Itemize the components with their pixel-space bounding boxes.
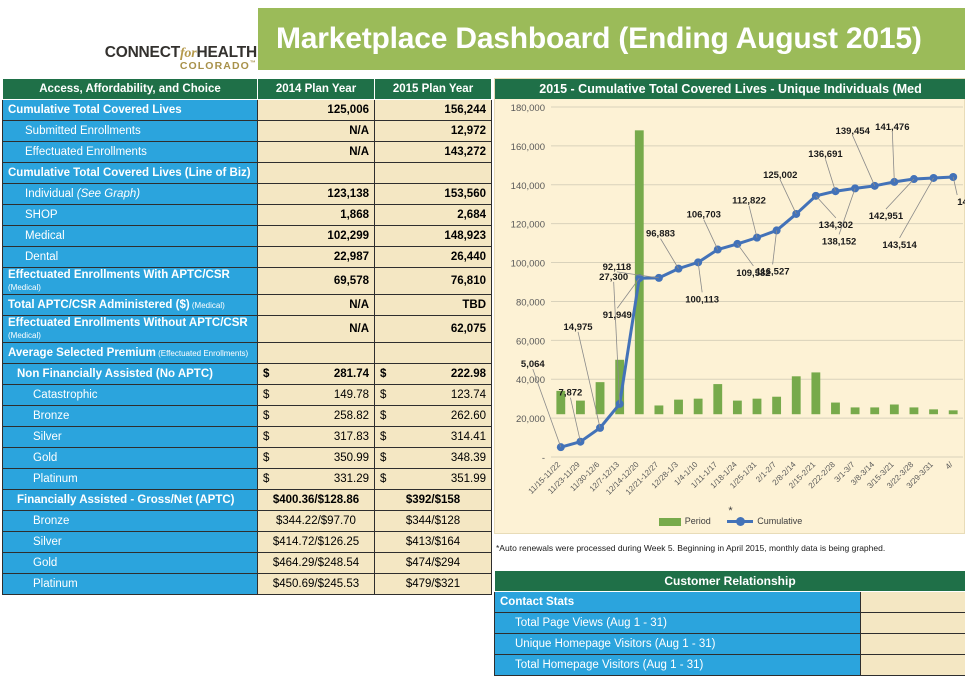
- row-label: Medical: [3, 226, 258, 247]
- data-label-leader: [825, 159, 835, 191]
- table-row: Individual (See Graph)123,138153,560: [3, 184, 492, 205]
- cell-2015: $344/$128: [375, 511, 492, 532]
- cell-2015: 26,440: [375, 247, 492, 268]
- data-label-leader: [773, 230, 777, 264]
- cell-2014: 123,138: [258, 184, 375, 205]
- table-row: Non Financially Assisted (No APTC)$281.7…: [3, 364, 492, 385]
- table-row: Platinum$450.69/$245.53$479/$321: [3, 574, 492, 595]
- data-label-leader: [749, 206, 757, 238]
- line-data-point: [576, 438, 584, 446]
- logo-colorado-text: COLORADO™: [72, 60, 257, 72]
- bar-period: [811, 372, 820, 414]
- cell-2015: 143,272: [375, 142, 492, 163]
- cell-2015: $123.74: [375, 385, 492, 406]
- column-header-2015: 2015 Plan Year: [375, 79, 492, 100]
- row-label: Bronze: [3, 511, 258, 532]
- table-row: Gold$464.29/$248.54$474/$294: [3, 553, 492, 574]
- currency-symbol: $: [263, 368, 269, 380]
- page-header: CONNECTforHEALTH COLORADO™ Marketplace D…: [0, 0, 965, 78]
- currency-symbol: $: [380, 473, 386, 485]
- currency-symbol: $: [380, 368, 386, 380]
- bar-period: [654, 405, 663, 414]
- logo-colorado-word: COLORADO: [180, 60, 250, 72]
- row-label-note: (See Graph): [74, 188, 140, 200]
- data-label: 134,302: [819, 220, 853, 231]
- data-label-leader: [892, 132, 894, 182]
- currency-symbol: $: [263, 389, 269, 401]
- logo-trademark: ™: [250, 61, 257, 67]
- data-label: 27,300: [599, 272, 628, 283]
- customer-row-label: Contact Stats: [495, 592, 861, 613]
- dashboard-title-bar: Marketplace Dashboard (Ending August 201…: [258, 8, 965, 70]
- data-label: 112,822: [732, 196, 766, 207]
- row-label-qualifier: (Medical): [190, 301, 225, 310]
- cell-2015: $479/$321: [375, 574, 492, 595]
- cell-2014: $344.22/$97.70: [258, 511, 375, 532]
- cell-2015: 153,560: [375, 184, 492, 205]
- customer-table-header-row: Customer Relationship: [495, 571, 965, 592]
- cell-2014: $258.82: [258, 406, 375, 427]
- table-row: Cumulative Total Covered Lives (Line of …: [3, 163, 492, 184]
- cell-2014: N/A: [258, 142, 375, 163]
- table-row: Platinum$331.29$351.99: [3, 469, 492, 490]
- cell-2014: $281.74: [258, 364, 375, 385]
- currency-symbol: $: [380, 410, 386, 422]
- row-label: Total APTC/CSR Administered ($) (Medical…: [3, 295, 258, 316]
- table-row: Total APTC/CSR Administered ($) (Medical…: [3, 295, 492, 316]
- cell-2015: 148,923: [375, 226, 492, 247]
- data-label: 142,951: [869, 211, 904, 222]
- legend-cumulative-swatch: [727, 520, 753, 523]
- data-label: 96,883: [646, 229, 675, 240]
- data-label: 91,949: [603, 310, 632, 321]
- cell-2014: N/A: [258, 295, 375, 316]
- currency-symbol: $: [263, 473, 269, 485]
- cell-2014: $414.72/$126.25: [258, 532, 375, 553]
- data-label-leader: [853, 136, 875, 186]
- table-row: Effectuated Enrollments With APTC/CSR (M…: [3, 268, 492, 295]
- cell-2015: $474/$294: [375, 553, 492, 574]
- row-label: Gold: [3, 448, 258, 469]
- customer-row-value: [861, 592, 965, 613]
- customer-table-row: Unique Homepage Visitors (Aug 1 - 31): [495, 634, 965, 655]
- row-label: Effectuated Enrollments With APTC/CSR (M…: [3, 268, 258, 295]
- cell-2015: $351.99: [375, 469, 492, 490]
- cell-2014: 22,987: [258, 247, 375, 268]
- x-axis-tick-label: 4/: [944, 460, 956, 472]
- currency-symbol: $: [263, 431, 269, 443]
- table-row: Dental22,98726,440: [3, 247, 492, 268]
- cell-2015: $348.39: [375, 448, 492, 469]
- customer-table-body: Contact StatsTotal Page Views (Aug 1 - 3…: [495, 592, 965, 676]
- bar-period: [596, 382, 605, 414]
- cell-2014: N/A: [258, 316, 375, 343]
- data-label-leader: [900, 178, 934, 238]
- row-label: Dental: [3, 247, 258, 268]
- dashboard-page: CONNECTforHEALTH COLORADO™ Marketplace D…: [0, 0, 965, 658]
- cell-2014: 69,578: [258, 268, 375, 295]
- table-row: Effectuated Enrollments Without APTC/CSR…: [3, 316, 492, 343]
- customer-table-row: Total Page Views (Aug 1 - 31): [495, 613, 965, 634]
- table-row: Medical102,299148,923: [3, 226, 492, 247]
- data-label: 7,872: [559, 388, 583, 399]
- row-label: Financially Assisted - Gross/Net (APTC): [3, 490, 258, 511]
- bar-period: [929, 409, 938, 414]
- row-label: Cumulative Total Covered Lives: [3, 100, 258, 121]
- row-label: Bronze: [3, 406, 258, 427]
- currency-symbol: $: [263, 410, 269, 422]
- customer-row-value: [861, 634, 965, 655]
- cell-2015: $262.60: [375, 406, 492, 427]
- legend-period-label: Period: [685, 516, 711, 526]
- table-row: Silver$317.83$314.41: [3, 427, 492, 448]
- row-label-qualifier: (Medical): [8, 331, 41, 340]
- currency-symbol: $: [263, 452, 269, 464]
- chart-svg: -20,00040,00060,00080,000100,000120,0001…: [495, 99, 965, 535]
- row-label-qualifier: (Medical): [8, 283, 41, 292]
- table-row: Silver$414.72/$126.25$413/$164: [3, 532, 492, 553]
- y-axis-tick-label: 140,000: [511, 181, 545, 192]
- bar-period: [870, 407, 879, 414]
- row-label: Effectuated Enrollments: [3, 142, 258, 163]
- cell-2014: N/A: [258, 121, 375, 142]
- cell-2015: $392/$158: [375, 490, 492, 511]
- chart-footnote: *Auto renewals were processed during Wee…: [496, 543, 965, 553]
- access-affordability-choice-table: Access, Affordability, and Choice 2014 P…: [2, 78, 492, 595]
- currency-symbol: $: [380, 452, 386, 464]
- y-axis-tick-label: 40,000: [516, 375, 545, 386]
- y-axis-tick-label: 160,000: [511, 142, 545, 153]
- y-axis-tick-label: -: [542, 453, 545, 464]
- row-label: Silver: [3, 427, 258, 448]
- cell-2014: $149.78: [258, 385, 375, 406]
- y-axis-tick-label: 20,000: [516, 414, 545, 425]
- data-label: 139,454: [836, 126, 871, 137]
- data-label: 14: [957, 197, 965, 208]
- y-axis-tick-label: 80,000: [516, 297, 545, 308]
- bar-period: [949, 410, 958, 414]
- column-header-2014: 2014 Plan Year: [258, 79, 375, 100]
- y-axis-tick-label: 100,000: [511, 259, 545, 270]
- chart-legend: * Period Cumulative: [495, 507, 965, 526]
- logo-for-text: for: [180, 46, 197, 61]
- bar-period: [674, 400, 683, 415]
- y-axis-tick-label: 180,000: [511, 103, 545, 114]
- connect-for-health-logo: CONNECTforHEALTH COLORADO™: [72, 34, 272, 74]
- cell-2014: [258, 343, 375, 364]
- bar-period: [635, 130, 644, 414]
- y-axis-tick-label: 120,000: [511, 220, 545, 231]
- cumulative-covered-lives-chart-panel: 2015 - Cumulative Total Covered Lives - …: [494, 78, 965, 534]
- chart-title: 2015 - Cumulative Total Covered Lives - …: [495, 79, 965, 99]
- data-label: 136,691: [808, 149, 843, 160]
- cell-2015: $222.98: [375, 364, 492, 385]
- bar-period: [890, 405, 899, 415]
- cell-2014: $331.29: [258, 469, 375, 490]
- customer-table-row: Contact Stats: [495, 592, 965, 613]
- table-row: Cumulative Total Covered Lives125,006156…: [3, 100, 492, 121]
- currency-symbol: $: [380, 389, 386, 401]
- legend-asterisk: *: [495, 507, 965, 515]
- row-label-qualifier: (Effectuated Enrollments): [156, 349, 248, 358]
- data-label: 5,064: [521, 359, 545, 370]
- cell-2015: 76,810: [375, 268, 492, 295]
- bar-period: [733, 401, 742, 415]
- data-label: 116,527: [756, 266, 790, 277]
- cell-2015: 156,244: [375, 100, 492, 121]
- data-label: 106,703: [687, 210, 721, 221]
- table-row: Submitted EnrollmentsN/A12,972: [3, 121, 492, 142]
- cell-2015: [375, 163, 492, 184]
- cell-2014: $400.36/$128.86: [258, 490, 375, 511]
- cell-2014: $450.69/$245.53: [258, 574, 375, 595]
- row-label: Individual (See Graph): [3, 184, 258, 205]
- chart-plot-area: -20,00040,00060,00080,000100,000120,0001…: [495, 99, 965, 535]
- customer-row-label: Total Page Views (Aug 1 - 31): [495, 613, 861, 634]
- column-header-metric: Access, Affordability, and Choice: [3, 79, 258, 100]
- cell-2014: $350.99: [258, 448, 375, 469]
- bar-period: [851, 407, 860, 414]
- currency-symbol: $: [380, 431, 386, 443]
- row-label: Platinum: [3, 469, 258, 490]
- data-label: 92,118: [603, 262, 632, 273]
- row-label: Average Selected Premium (Effectuated En…: [3, 343, 258, 364]
- table-body: Cumulative Total Covered Lives125,006156…: [3, 100, 492, 595]
- data-label-leader: [816, 196, 836, 218]
- data-label: 14,975: [564, 322, 594, 333]
- row-label: Silver: [3, 532, 258, 553]
- cell-2015: 62,075: [375, 316, 492, 343]
- data-label: 100,113: [685, 294, 719, 305]
- data-label: 125,002: [763, 170, 797, 181]
- bar-period: [910, 407, 919, 414]
- row-label: Platinum: [3, 574, 258, 595]
- cell-2015: [375, 343, 492, 364]
- table-row: Gold$350.99$348.39: [3, 448, 492, 469]
- y-axis-tick-label: 60,000: [516, 336, 545, 347]
- bar-period: [694, 399, 703, 415]
- logo-health-text: HEALTH: [196, 44, 257, 61]
- legend-period-swatch: [659, 518, 681, 526]
- cell-2015: TBD: [375, 295, 492, 316]
- cell-2014: $464.29/$248.54: [258, 553, 375, 574]
- bar-period: [792, 376, 801, 414]
- row-label: Non Financially Assisted (No APTC): [3, 364, 258, 385]
- data-label: 138,152: [822, 236, 856, 247]
- cell-2014: 1,868: [258, 205, 375, 226]
- table-header-row: Access, Affordability, and Choice 2014 P…: [3, 79, 492, 100]
- bar-period: [831, 403, 840, 415]
- data-label: 141,476: [875, 122, 909, 133]
- table-row: Bronze$258.82$262.60: [3, 406, 492, 427]
- table-row: Average Selected Premium (Effectuated En…: [3, 343, 492, 364]
- data-label-leader: [661, 239, 679, 269]
- customer-table-title: Customer Relationship: [495, 571, 965, 592]
- bar-period: [772, 397, 781, 415]
- cell-2015: $413/$164: [375, 532, 492, 553]
- data-label-leader: [698, 262, 702, 292]
- row-label: SHOP: [3, 205, 258, 226]
- table-row: Bronze$344.22/$97.70$344/$128: [3, 511, 492, 532]
- cell-2014: 125,006: [258, 100, 375, 121]
- row-label: Gold: [3, 553, 258, 574]
- cell-2015: 12,972: [375, 121, 492, 142]
- bar-period: [753, 399, 762, 415]
- cell-2015: 2,684: [375, 205, 492, 226]
- customer-row-value: [861, 613, 965, 634]
- cell-2014: 102,299: [258, 226, 375, 247]
- table-row: Effectuated EnrollmentsN/A143,272: [3, 142, 492, 163]
- bar-period: [713, 384, 722, 414]
- row-label: Cumulative Total Covered Lives (Line of …: [3, 163, 258, 184]
- table-row: Catastrophic$149.78$123.74: [3, 385, 492, 406]
- customer-row-label: Unique Homepage Visitors (Aug 1 - 31): [495, 634, 861, 655]
- customer-relationship-table: Customer Relationship Contact StatsTotal…: [494, 570, 965, 676]
- row-label: Submitted Enrollments: [3, 121, 258, 142]
- row-label: Effectuated Enrollments Without APTC/CSR…: [3, 316, 258, 343]
- legend-cumulative-label: Cumulative: [757, 516, 802, 526]
- cell-2014: [258, 163, 375, 184]
- row-label: Catastrophic: [3, 385, 258, 406]
- data-label: 143,514: [882, 240, 917, 251]
- bar-period: [576, 401, 585, 415]
- cell-2014: $317.83: [258, 427, 375, 448]
- cell-2015: $314.41: [375, 427, 492, 448]
- table-row: Financially Assisted - Gross/Net (APTC)$…: [3, 490, 492, 511]
- table-row: SHOP1,8682,684: [3, 205, 492, 226]
- page-title: Marketplace Dashboard (Ending August 201…: [258, 8, 965, 70]
- logo-connect-text: CONNECT: [105, 44, 180, 61]
